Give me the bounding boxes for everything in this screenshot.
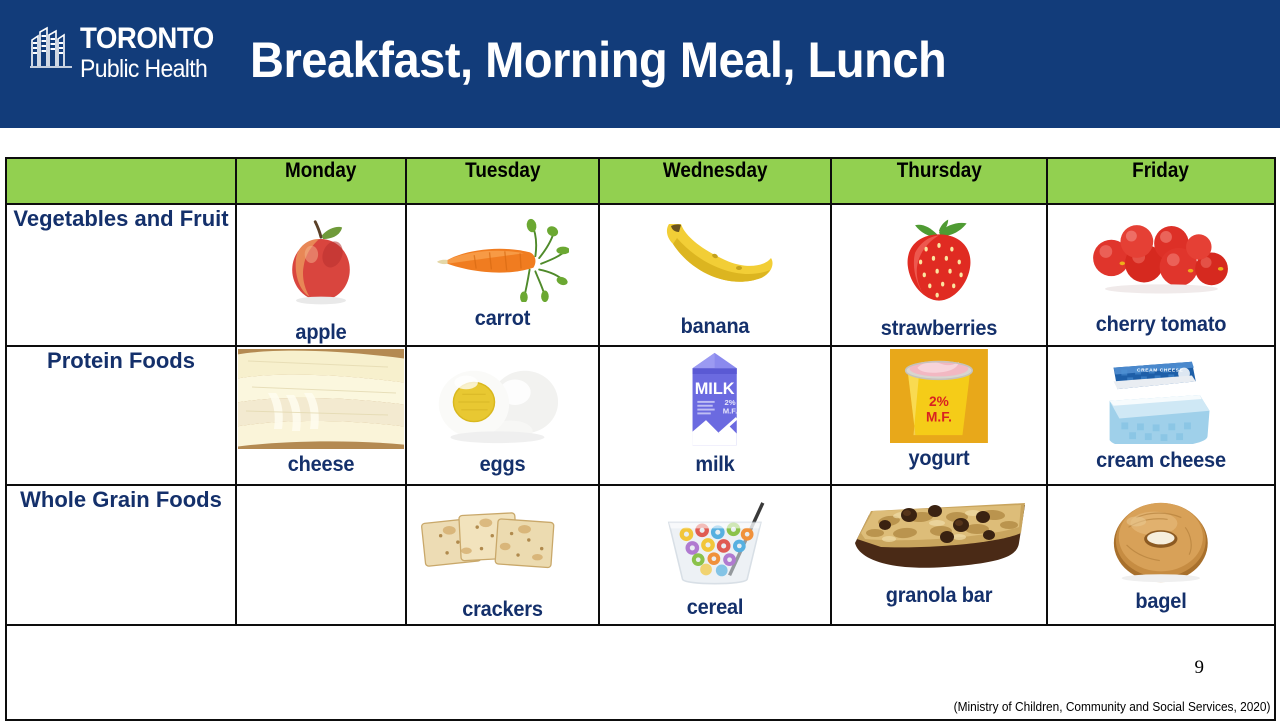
crackers-icon xyxy=(407,486,598,584)
logo-toronto-text: TORONTO xyxy=(80,24,214,54)
boiled-eggs-icon xyxy=(407,347,598,449)
cell-thursday-granola-bar: granola bar xyxy=(831,485,1047,625)
svg-text:M.F.: M.F. xyxy=(926,409,952,424)
table-row-vegetables-and-fruit: Vegetables and Fruit apple xyxy=(6,204,1275,346)
table-row-whole-grain-foods: Whole Grain Foods xyxy=(6,485,1275,625)
table-corner-cell xyxy=(6,158,236,204)
food-label-strawberries: strawberries xyxy=(837,317,1040,341)
table-header-row: Monday Tuesday Wednesday Thursday Friday xyxy=(6,158,1275,204)
column-header-wednesday: Wednesday xyxy=(599,158,831,204)
toronto-skyline-icon xyxy=(28,26,74,70)
svg-text:CREAM CHEESE: CREAM CHEESE xyxy=(1137,368,1183,374)
cell-wednesday-cereal: cereal xyxy=(599,485,831,625)
cell-friday-cream-cheese: CREAM CHEESE xyxy=(1047,346,1275,485)
food-label-bagel: bagel xyxy=(1054,590,1269,614)
bagel-icon xyxy=(1048,486,1274,586)
food-label-eggs: eggs xyxy=(412,453,593,477)
cell-monday-cheese: cheese xyxy=(236,346,406,485)
food-label-carrot: carrot xyxy=(412,307,593,331)
yogurt-cup-icon: 2% M.F. xyxy=(832,347,1046,443)
row-label-vegetables-and-fruit: Vegetables and Fruit xyxy=(6,204,236,346)
toronto-public-health-logo: TORONTO Public Health xyxy=(28,24,218,94)
cell-tuesday-eggs: eggs xyxy=(406,346,599,485)
cell-friday-cherry-tomato: cherry tomato xyxy=(1047,204,1275,346)
column-header-wednesday-label: Wednesday xyxy=(663,159,768,183)
cereal-bowl-icon xyxy=(600,486,830,592)
column-header-monday-label: Monday xyxy=(285,159,356,183)
column-header-tuesday-label: Tuesday xyxy=(465,159,540,183)
column-header-friday-label: Friday xyxy=(1133,159,1190,183)
svg-text:2%: 2% xyxy=(725,398,736,407)
strawberry-icon xyxy=(832,205,1046,309)
cell-wednesday-milk: MILK 2% M.F. milk xyxy=(599,346,831,485)
svg-text:M.F.: M.F. xyxy=(723,406,738,415)
logo-public-health-text: Public Health xyxy=(80,57,214,82)
food-label-cream-cheese: cream cheese xyxy=(1054,449,1269,473)
carrot-icon xyxy=(407,205,598,303)
column-header-thursday-label: Thursday xyxy=(896,159,981,183)
slide-header-band: TORONTO Public Health Breakfast, Morning… xyxy=(0,0,1280,128)
string-cheese-icon xyxy=(237,347,405,449)
milk-carton-icon: MILK 2% M.F. xyxy=(600,347,830,449)
food-label-apple: apple xyxy=(241,321,401,345)
food-label-cherry-tomato: cherry tomato xyxy=(1054,313,1269,337)
milk-carton-word: MILK xyxy=(695,380,735,398)
cell-monday-empty xyxy=(236,485,406,625)
cell-tuesday-crackers: crackers xyxy=(406,485,599,625)
cell-monday-apple: apple xyxy=(236,204,406,346)
food-label-banana: banana xyxy=(606,315,825,339)
granola-bar-icon xyxy=(832,486,1046,580)
cell-thursday-yogurt: 2% M.F. yogurt xyxy=(831,346,1047,485)
column-header-thursday: Thursday xyxy=(831,158,1047,204)
apple-icon xyxy=(237,205,405,313)
cell-friday-bagel: bagel xyxy=(1047,485,1275,625)
page-title: Breakfast, Morning Meal, Lunch xyxy=(250,31,946,89)
row-label-whole-grain-foods: Whole Grain Foods xyxy=(6,485,236,625)
cream-cheese-tub-icon: CREAM CHEESE xyxy=(1048,347,1274,445)
food-label-crackers: crackers xyxy=(412,598,593,622)
cell-tuesday-carrot: carrot xyxy=(406,204,599,346)
column-header-tuesday: Tuesday xyxy=(406,158,599,204)
cherry-tomato-icon xyxy=(1048,205,1274,299)
food-label-cereal: cereal xyxy=(606,596,825,620)
source-attribution: (Ministry of Children, Community and Soc… xyxy=(953,700,1270,714)
column-header-friday: Friday xyxy=(1047,158,1275,204)
food-label-granola-bar: granola bar xyxy=(837,584,1040,608)
banana-icon xyxy=(600,205,830,307)
table-row-protein-foods: Protein Foods xyxy=(6,346,1275,485)
food-label-milk: milk xyxy=(606,453,825,477)
weekly-menu-table: Monday Tuesday Wednesday Thursday Friday… xyxy=(5,157,1276,721)
cell-thursday-strawberries: strawberries xyxy=(831,204,1047,346)
cell-wednesday-banana: banana xyxy=(599,204,831,346)
food-label-cheese: cheese xyxy=(241,453,401,477)
column-header-monday: Monday xyxy=(236,158,406,204)
page-number: 9 xyxy=(1195,657,1205,679)
food-label-yogurt: yogurt xyxy=(837,447,1040,471)
row-label-protein-foods: Protein Foods xyxy=(6,346,236,485)
svg-text:2%: 2% xyxy=(929,394,949,409)
